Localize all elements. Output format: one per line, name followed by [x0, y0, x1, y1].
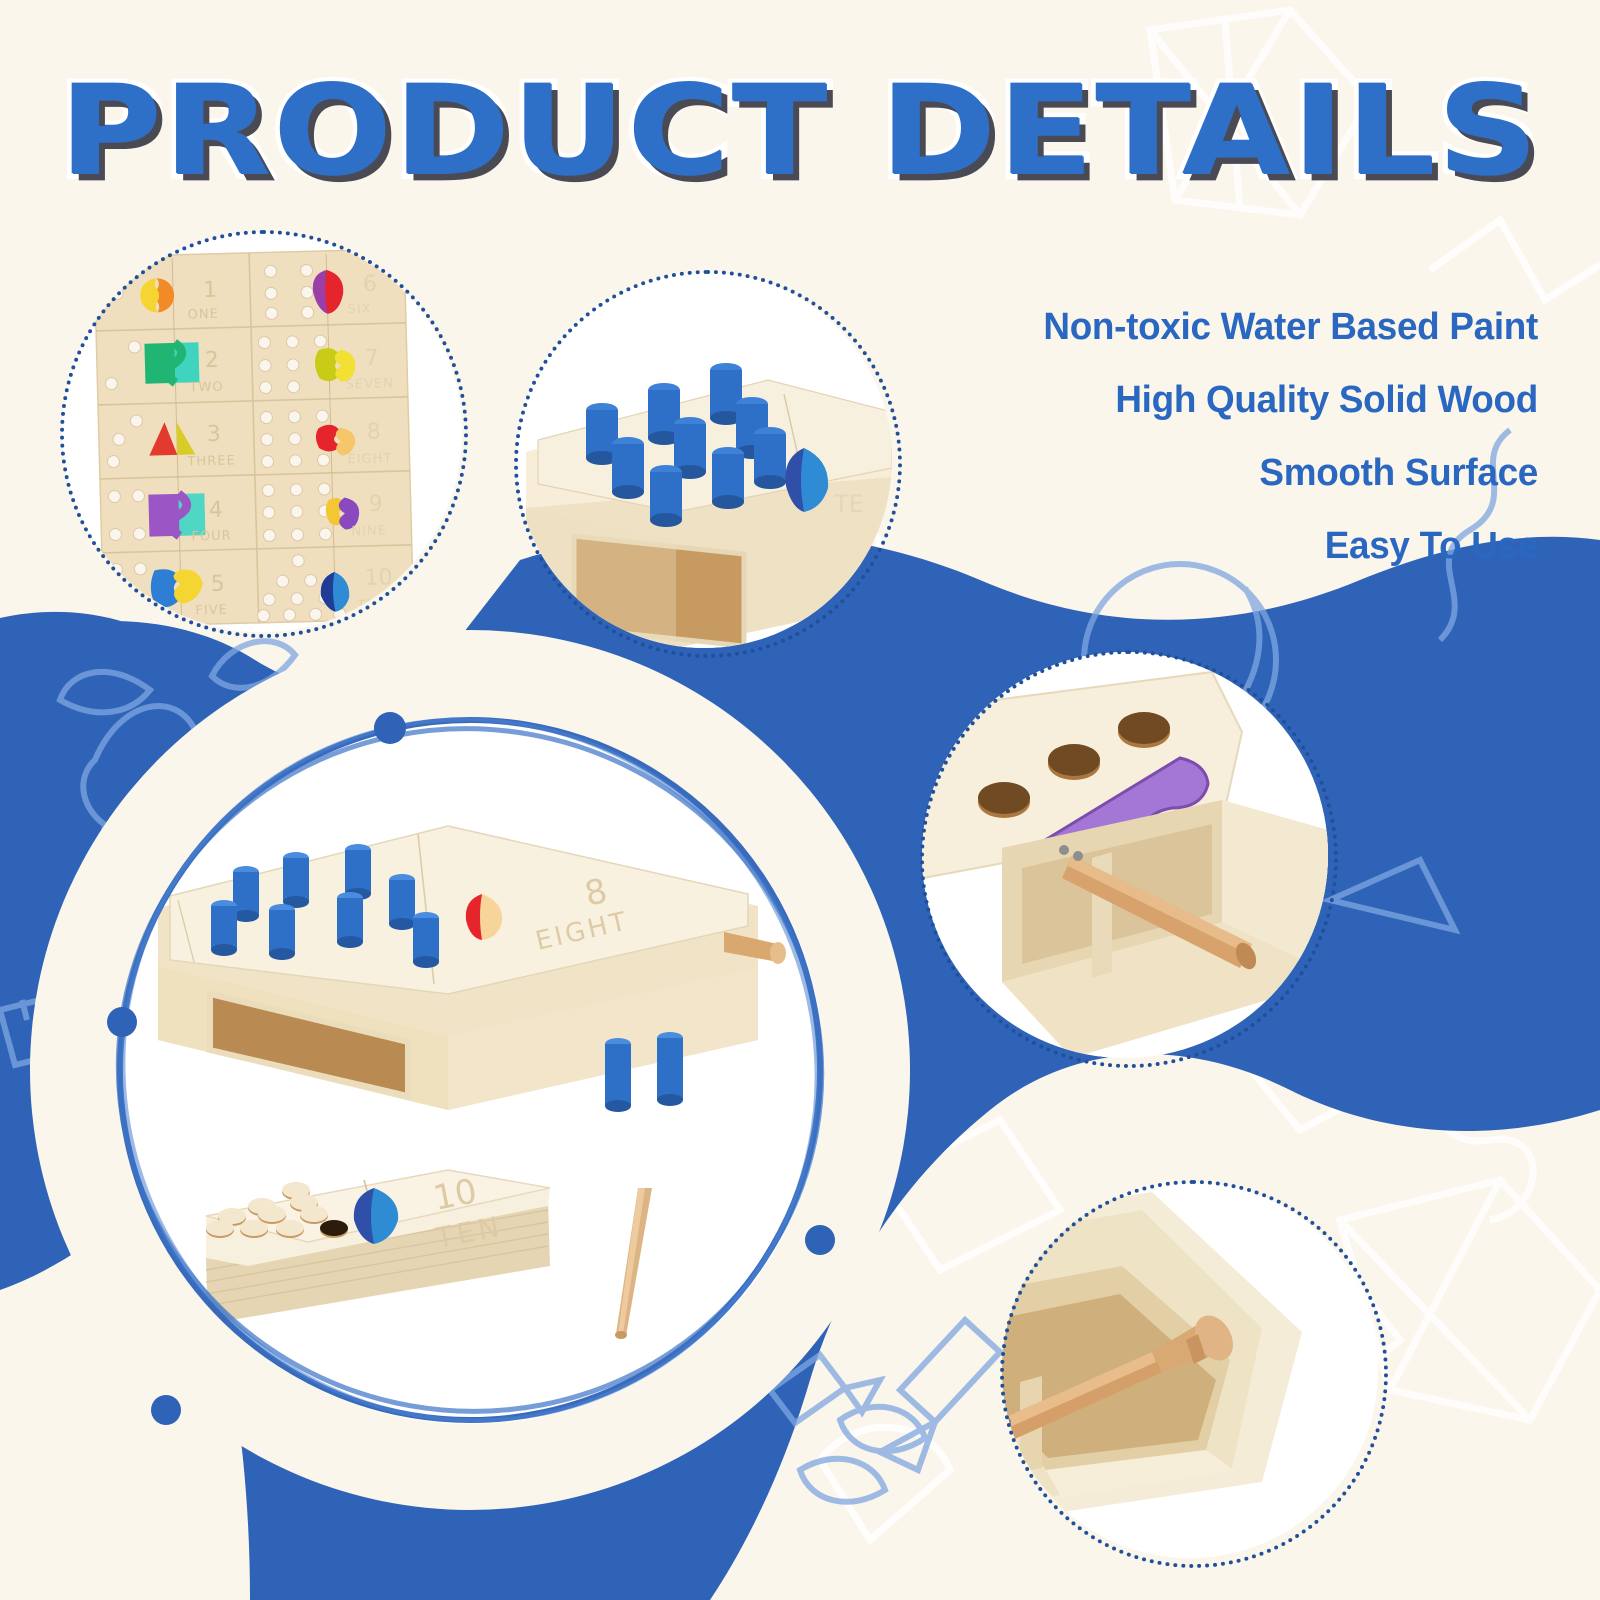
svg-text:SIX: SIX — [347, 302, 371, 318]
svg-text:8: 8 — [366, 420, 381, 445]
hole-detail-illustration — [922, 652, 1328, 1058]
svg-text:EIGHT: EIGHT — [347, 451, 392, 467]
svg-text:TEN: TEN — [356, 597, 386, 613]
svg-text:7: 7 — [365, 346, 380, 371]
svg-text:THREE: THREE — [186, 453, 236, 469]
drawer-detail-photo — [1002, 1182, 1378, 1558]
page-title-wrapper: PRODUCT DETAILS — [0, 72, 1600, 190]
feature-list: Non-toxic Water Based Paint High Quality… — [898, 308, 1538, 600]
number-board-photo: 1 ONE 2 TWO — [62, 232, 462, 632]
svg-text:FIVE: FIVE — [195, 603, 228, 619]
main-product-illustration: 8 EIGHT — [118, 718, 824, 1424]
hole-detail-photo — [922, 652, 1328, 1058]
drawer-detail-illustration — [1002, 1182, 1378, 1558]
page-title: PRODUCT DETAILS — [60, 69, 1541, 193]
svg-text:5: 5 — [210, 572, 225, 597]
svg-text:9: 9 — [368, 492, 383, 517]
peg-box-illustration: TE — [516, 272, 892, 648]
svg-text:NINE: NINE — [351, 523, 387, 539]
svg-text:TWO: TWO — [188, 380, 223, 396]
svg-text:10: 10 — [364, 565, 393, 591]
feature-item-3: Smooth Surface — [917, 454, 1538, 492]
svg-text:3: 3 — [206, 422, 221, 447]
svg-text:2: 2 — [205, 348, 220, 373]
page-root: PRODUCT DETAILS Non-toxic Water Based Pa… — [0, 0, 1600, 1600]
svg-text:1: 1 — [203, 278, 218, 303]
number-board-illustration: 1 ONE 2 TWO — [62, 232, 462, 632]
svg-text:SEVEN: SEVEN — [345, 376, 394, 392]
svg-text:4: 4 — [208, 498, 223, 523]
svg-text:TE: TE — [833, 490, 864, 518]
svg-text:10: 10 — [430, 1171, 480, 1219]
peg-box-photo: TE — [516, 272, 892, 648]
main-product-photo: 8 EIGHT — [118, 718, 824, 1424]
svg-text:FOUR: FOUR — [191, 528, 232, 544]
feature-item-4: Easy To Use — [917, 527, 1538, 565]
svg-text:6: 6 — [363, 272, 378, 297]
feature-item-2: High Quality Solid Wood — [917, 381, 1538, 419]
feature-item-1: Non-toxic Water Based Paint — [917, 308, 1538, 346]
svg-text:ONE: ONE — [187, 307, 219, 323]
